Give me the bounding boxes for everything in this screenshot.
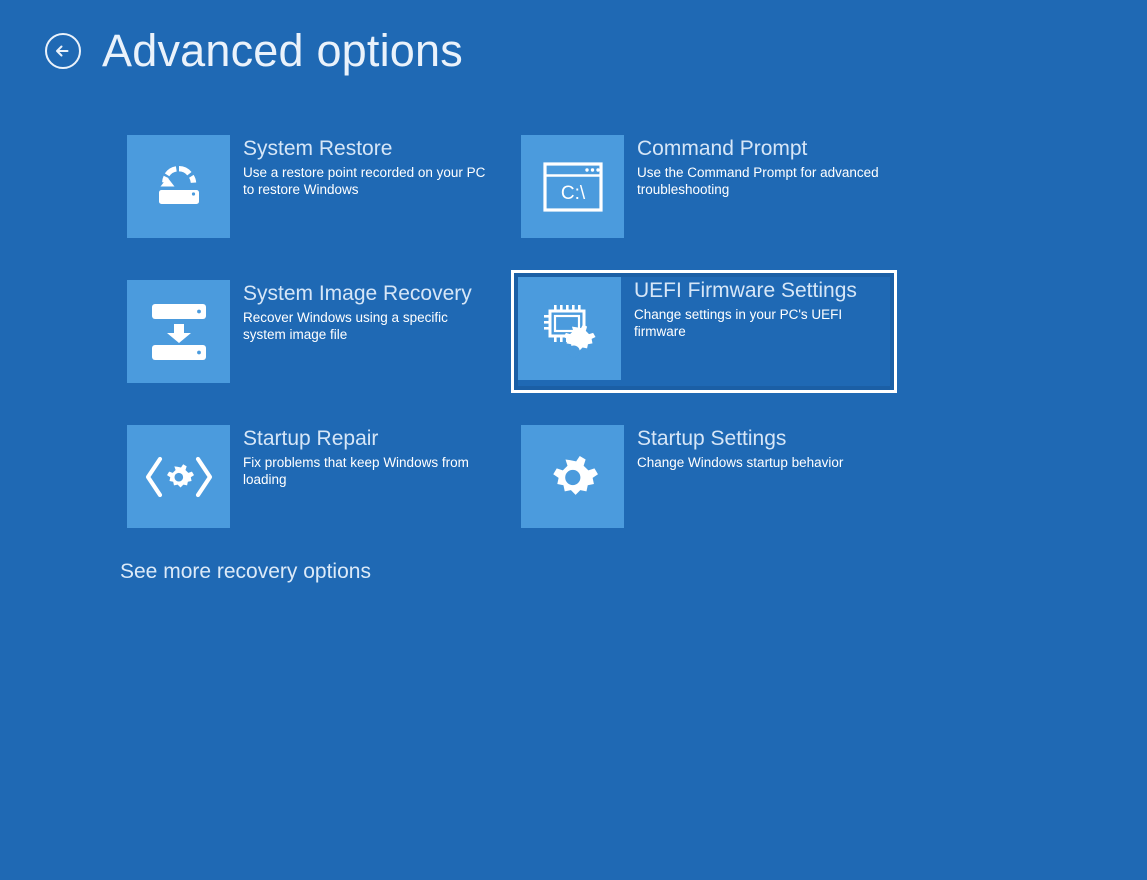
option-text: Startup Settings Change Windows startup … <box>637 425 843 471</box>
option-title: Startup Settings <box>637 426 843 451</box>
option-description: Use a restore point recorded on your PC … <box>243 164 491 198</box>
see-more-recovery-options-link[interactable]: See more recovery options <box>120 560 371 584</box>
option-description: Recover Windows using a specific system … <box>243 309 491 343</box>
startup-repair-icon <box>127 425 230 528</box>
option-title: Startup Repair <box>243 426 491 451</box>
option-title: System Restore <box>243 136 491 161</box>
option-description: Use the Command Prompt for advanced trou… <box>637 164 885 198</box>
page-title: Advanced options <box>102 28 463 73</box>
page-header: Advanced options <box>44 28 463 73</box>
startup-settings-icon <box>521 425 624 528</box>
option-system-restore[interactable]: System Restore Use a restore point recor… <box>120 128 500 245</box>
option-text: Command Prompt Use the Command Prompt fo… <box>637 135 885 198</box>
option-startup-repair[interactable]: Startup Repair Fix problems that keep Wi… <box>120 418 500 535</box>
option-title: System Image Recovery <box>243 281 491 306</box>
back-arrow-icon[interactable] <box>44 32 82 70</box>
option-command-prompt[interactable]: C:\ Command Prompt Use the Command Promp… <box>514 128 894 245</box>
option-text: System Restore Use a restore point recor… <box>243 135 491 198</box>
advanced-options-grid: System Restore Use a restore point recor… <box>120 128 910 535</box>
option-text: System Image Recovery Recover Windows us… <box>243 280 491 343</box>
command-prompt-icon: C:\ <box>521 135 624 238</box>
option-title: Command Prompt <box>637 136 885 161</box>
option-description: Fix problems that keep Windows from load… <box>243 454 491 488</box>
option-description: Change settings in your PC's UEFI firmwa… <box>634 306 859 340</box>
option-text: UEFI Firmware Settings Change settings i… <box>634 277 859 340</box>
option-title: UEFI Firmware Settings <box>634 278 859 303</box>
option-startup-settings[interactable]: Startup Settings Change Windows startup … <box>514 418 894 535</box>
option-text: Startup Repair Fix problems that keep Wi… <box>243 425 491 488</box>
system-image-recovery-icon <box>127 280 230 383</box>
system-restore-icon <box>127 135 230 238</box>
option-uefi-firmware-settings[interactable]: UEFI Firmware Settings Change settings i… <box>514 273 894 390</box>
option-description: Change Windows startup behavior <box>637 454 843 471</box>
option-system-image-recovery[interactable]: System Image Recovery Recover Windows us… <box>120 273 500 390</box>
uefi-firmware-icon <box>518 277 621 380</box>
svg-text:C:\: C:\ <box>560 183 585 204</box>
